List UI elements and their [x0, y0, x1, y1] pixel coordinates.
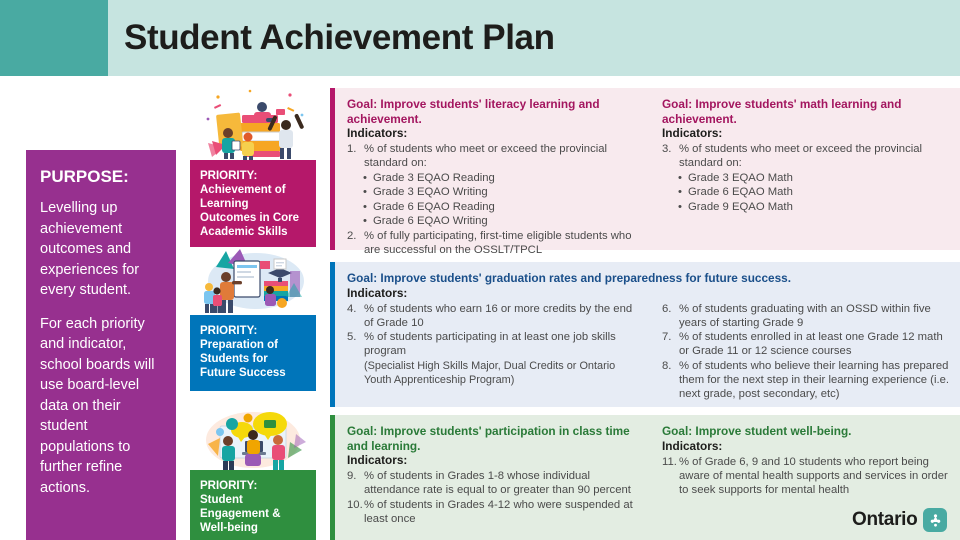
indicator-item: 9. % of students in Grades 1-8 whose ind… [347, 469, 640, 498]
goal-column-math: Goal: Improve students' math learning an… [650, 88, 960, 250]
ontario-wordmark: Ontario [852, 509, 917, 531]
priority-card-engagement-wellbeing: PRIORITY: Student Engagement & Well-bein… [190, 408, 316, 540]
priority-kicker-2: PRIORITY: [200, 324, 306, 338]
indicator-text: % of students who meet or exceed the pro… [364, 142, 640, 171]
indicator-subitem-text: Grade 6 EQAO Writing [373, 214, 488, 229]
indicator-text: % of students graduating with an OSSD wi… [679, 302, 950, 331]
priority-name-2: Preparation of Students for Future Succe… [200, 338, 306, 380]
bullet-icon: • [363, 171, 373, 186]
indicator-item: 3. % of students who meet or exceed the … [662, 142, 950, 171]
goal-heading-participation: Goal: Improve students' participation in… [347, 424, 640, 453]
indicator-text: % of students in Grades 1-8 whose indivi… [364, 469, 640, 498]
indicator-number: 4. [347, 302, 364, 331]
priority-name-3: Student Engagement & Well-being [200, 493, 306, 535]
indicator-subitem-text: Grade 6 EQAO Reading [373, 200, 495, 215]
indicator-text: % of students who meet or exceed the pro… [679, 142, 950, 171]
goal-column-graduation-right: 6. % of students graduating with an OSSD… [650, 301, 960, 410]
indicator-item: 5. % of students participating in at lea… [347, 330, 640, 359]
students-with-books-illustration-icon [190, 85, 316, 160]
priority-label-box-2: PRIORITY: Preparation of Students for Fu… [190, 315, 316, 391]
goal-column-graduation-left: 4. % of students who earn 16 or more cre… [335, 301, 650, 410]
purpose-paragraph-1: Levelling up achievement outcomes and ex… [40, 198, 162, 301]
indicators-label: Indicators: [347, 453, 640, 468]
goal-heading-graduation: Goal: Improve students' graduation rates… [347, 271, 947, 286]
indicator-subitem-text: Grade 6 EQAO Math [688, 185, 793, 200]
students-collaborating-illustration-icon [190, 408, 316, 470]
indicator-subitem: • Grade 3 EQAO Writing [363, 185, 640, 200]
goal-heading-literacy: Goal: Improve students' literacy learnin… [347, 97, 640, 126]
indicator-number: 8. [662, 359, 679, 402]
bullet-icon: • [678, 171, 688, 186]
indicator-note: (Specialist High Skills Major, Dual Cred… [364, 359, 640, 387]
indicator-subitem: • Grade 9 EQAO Math [678, 200, 950, 215]
indicator-number: 5. [347, 330, 364, 359]
priority-label-box-3: PRIORITY: Student Engagement & Well-bein… [190, 470, 316, 540]
priority-label-box-1: PRIORITY: Achievement of Learning Outcom… [190, 160, 316, 250]
goal-column-participation: Goal: Improve students' participation in… [335, 415, 650, 540]
indicator-item: 6. % of students graduating with an OSSD… [662, 302, 950, 331]
indicator-text: % of students who believe their learning… [679, 359, 950, 402]
indicator-subitem-text: Grade 9 EQAO Math [688, 200, 793, 215]
priority-name-1: Achievement of Learning Outcomes in Core… [200, 183, 306, 239]
header-band: Student Achievement Plan [0, 0, 960, 76]
goal-panel-future-success: Goal: Improve students' graduation rates… [330, 262, 960, 407]
page-title: Student Achievement Plan [124, 16, 555, 60]
indicator-number: 7. [662, 330, 679, 359]
indicator-text: % of students who earn 16 or more credit… [364, 302, 640, 331]
indicators-label: Indicators: [662, 439, 950, 454]
indicator-number: 1. [347, 142, 364, 171]
indicator-item: 7. % of students enrolled in at least on… [662, 330, 950, 359]
bullet-icon: • [678, 185, 688, 200]
indicator-number: 9. [347, 469, 364, 498]
trillium-icon [923, 508, 947, 532]
indicator-item: 10. % of students in Grades 4-12 who wer… [347, 498, 640, 527]
indicator-number: 10. [347, 498, 364, 527]
indicators-label: Indicators: [347, 286, 950, 301]
indicator-text: % of students enrolled in at least one G… [679, 330, 950, 359]
indicator-text: % of students participating in at least … [364, 330, 640, 359]
priority-card-academic-skills: PRIORITY: Achievement of Learning Outcom… [190, 85, 316, 250]
purpose-title: PURPOSE: [40, 166, 162, 188]
indicators-label: Indicators: [347, 126, 640, 141]
indicator-subitem-text: Grade 3 EQAO Reading [373, 171, 495, 186]
purpose-box: PURPOSE: Levelling up achievement outcom… [26, 150, 176, 540]
teacher-and-students-illustration-icon [190, 247, 316, 315]
ontario-logo: Ontario [852, 508, 947, 532]
indicator-subitem: • Grade 3 EQAO Math [678, 171, 950, 186]
goal-heading-math: Goal: Improve students' math learning an… [662, 97, 950, 126]
bullet-icon: • [363, 200, 373, 215]
student-achievement-plan-infographic: Student Achievement Plan PURPOSE: Levell… [0, 0, 960, 540]
indicators-label: Indicators: [662, 126, 950, 141]
indicator-number: 3. [662, 142, 679, 171]
indicator-number: 2. [347, 229, 364, 258]
indicator-subitem-text: Grade 3 EQAO Writing [373, 185, 488, 200]
indicator-item: 8. % of students who believe their learn… [662, 359, 950, 402]
goal-panel-academic-skills: Goal: Improve students' literacy learnin… [330, 88, 960, 250]
indicator-item: 2. % of fully participating, first-time … [347, 229, 640, 258]
priority-card-future-success: PRIORITY: Preparation of Students for Fu… [190, 247, 316, 391]
bullet-icon: • [678, 200, 688, 215]
indicator-item: 4. % of students who earn 16 or more cre… [347, 302, 640, 331]
indicator-text: % of students in Grades 4-12 who were su… [364, 498, 640, 527]
goal-column-literacy: Goal: Improve students' literacy learnin… [335, 88, 650, 250]
indicator-subitem: • Grade 6 EQAO Reading [363, 200, 640, 215]
bullet-icon: • [363, 185, 373, 200]
priority-kicker-1: PRIORITY: [200, 169, 306, 183]
indicator-text: % of fully participating, first-time eli… [364, 229, 640, 258]
priority-kicker-3: PRIORITY: [200, 479, 306, 493]
indicator-text: % of Grade 6, 9 and 10 students who repo… [679, 455, 950, 498]
indicator-item: 11. % of Grade 6, 9 and 10 students who … [662, 455, 950, 498]
indicator-subitem: • Grade 6 EQAO Math [678, 185, 950, 200]
header-accent-block [0, 0, 108, 76]
indicator-number: 11. [662, 455, 679, 498]
goal-heading-wellbeing: Goal: Improve student well-being. [662, 424, 950, 439]
indicator-subitem-text: Grade 3 EQAO Math [688, 171, 793, 186]
indicator-subitem: • Grade 3 EQAO Reading [363, 171, 640, 186]
purpose-paragraph-2: For each priority and indicator, school … [40, 314, 162, 499]
indicator-number: 6. [662, 302, 679, 331]
indicator-item: 1. % of students who meet or exceed the … [347, 142, 640, 171]
bullet-icon: • [363, 214, 373, 229]
indicator-subitem: • Grade 6 EQAO Writing [363, 214, 640, 229]
